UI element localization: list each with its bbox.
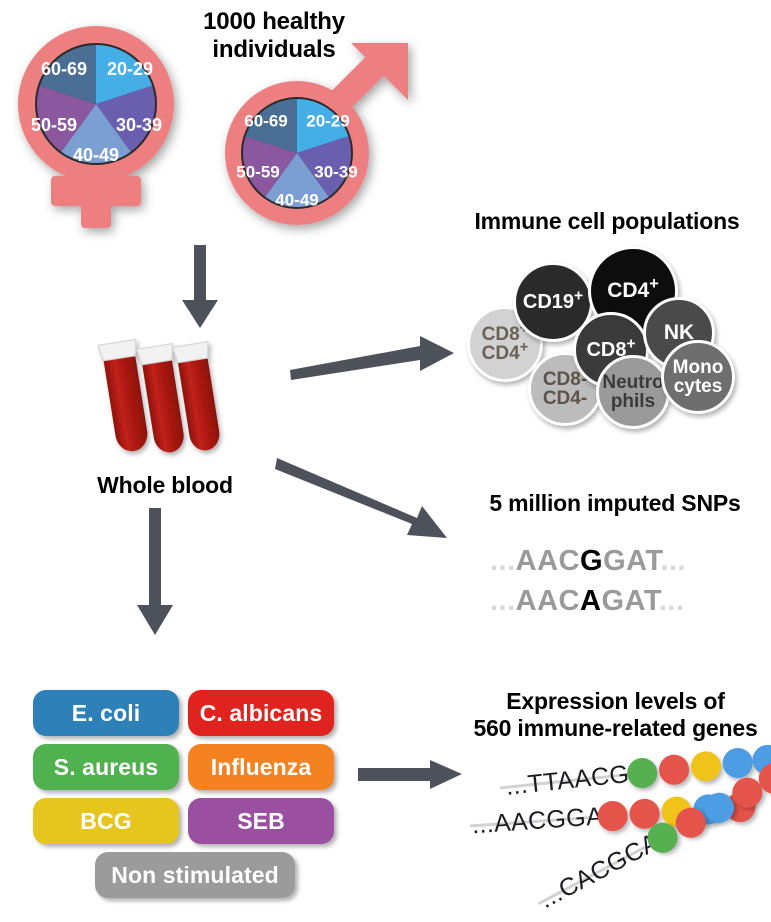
arrow-stimuli-to-expression [358,755,468,795]
stimulus-e-coli[interactable]: E. coli [33,690,179,736]
arrow-down-cohort-to-blood [178,245,222,330]
snp-left-bases: AAC [516,545,580,577]
snp-variant-base: A [580,585,601,617]
pie-label-40-49: 40-49 [275,190,318,209]
stimulus-s-aureus[interactable]: S. aureus [33,744,179,790]
immune-cell-label: CD4+ [607,280,659,301]
snp-right-bases: GAT [601,585,658,617]
female-symbol[interactable]: 20-29 30-39 40-49 50-59 60-69 [8,8,198,233]
snp-left-bases: AAC [516,585,580,617]
immune-cell-neutrophils[interactable]: Neutrophils [596,355,670,429]
snp-prefix-dots: ... [490,585,516,617]
pie-label-20-29: 20-29 [107,59,153,79]
stimulus-c-albicans[interactable]: C. albicans [188,690,334,736]
male-symbol[interactable]: 20-29 30-39 40-49 50-59 60-69 [205,40,420,245]
immune-cell-label: CD19+ [523,292,583,312]
pie-label-60-69: 60-69 [41,59,87,79]
immune-cell-monocytes[interactable]: Monocytes [661,340,735,414]
expression-heading-line2: 560 immune-related genes [463,715,768,742]
pie-label-20-29: 20-29 [306,111,349,130]
stimulus-label: Influenza [211,754,312,781]
arrow-blood-to-immune-cells [288,330,458,385]
strand-sequence: ...AACGGAT [471,801,618,840]
stimulus-label: Non stimulated [111,862,279,889]
snp-sequence-allele-2: ...AACAGAT... [490,585,685,618]
immune-cell-label: CD8+CD4+ [482,325,529,364]
stimulus-label: SEB [237,808,285,835]
pie-label-30-39: 30-39 [314,162,357,181]
stimulus-non-stimulated[interactable]: Non stimulated [95,852,295,898]
pie-label-30-39: 30-39 [116,115,162,135]
pie-label-50-59: 50-59 [236,162,279,181]
snp-variant-base: G [580,545,603,577]
nucleotide-bead-red [658,753,691,786]
arrow-blood-to-snps [275,450,465,545]
stimulus-label: S. aureus [54,754,158,781]
snp-suffix-dots: ... [659,585,685,617]
immune-cell-label: Neutrophils [602,373,663,412]
arrow-down-blood-to-stimuli [133,508,177,638]
whole-blood-label: Whole blood [75,472,255,499]
stimulus-bcg[interactable]: BCG [33,798,179,844]
expression-heading: Expression levels of 560 immune-related … [463,688,768,742]
snp-suffix-dots: ... [660,545,686,577]
immune-cell-label: CD8-CD4- [543,370,587,409]
cohort-heading-line1: 1000 healthy [168,8,380,36]
nucleotide-bead-yellow [689,750,722,783]
snp-prefix-dots: ... [490,545,516,577]
stimulus-label: C. albicans [200,700,323,727]
immune-cell-label: Monocytes [673,358,724,397]
snp-right-bases: GAT [603,545,660,577]
expression-heading-line1: Expression levels of [463,688,768,715]
pie-label-60-69: 60-69 [244,111,287,130]
stimulus-seb[interactable]: SEB [188,798,334,844]
snp-sequence-allele-1: ...AACGGAT... [490,545,686,578]
pie-label-40-49: 40-49 [73,145,119,165]
snps-heading: 5 million imputed SNPs [470,490,760,517]
pie-label-50-59: 50-59 [31,115,77,135]
immune-heading: Immune cell populations [452,208,762,235]
stimulus-influenza[interactable]: Influenza [188,744,334,790]
blood-tubes-illustration [98,338,228,463]
stimulus-label: E. coli [72,700,140,727]
stimulus-label: BCG [80,808,131,835]
figure-canvas: 1000 healthy individuals [0,0,771,922]
